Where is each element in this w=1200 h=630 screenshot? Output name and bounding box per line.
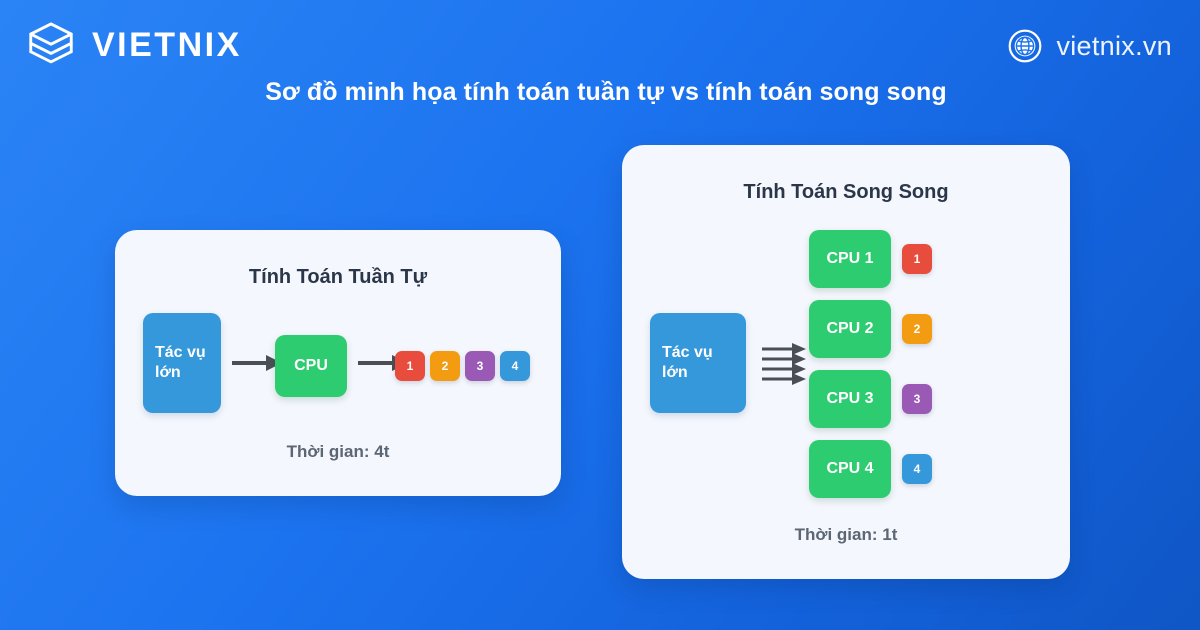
sequential-chip-row: 1 2 3 4 — [395, 351, 530, 381]
parallel-chip-2: 2 — [902, 314, 932, 344]
infographic-canvas: VIETNIX vietnix.vn Sơ đồ minh họa tính t… — [0, 0, 1200, 630]
sequential-chip-1: 1 — [395, 351, 425, 381]
stacked-layers-icon — [24, 18, 78, 72]
card-sequential-computing: Tính Toán Tuần Tự Tác vụ lớn CPU 1 2 3 4… — [115, 230, 561, 496]
sequential-chip-3: 3 — [465, 351, 495, 381]
globe-icon — [1007, 28, 1043, 64]
sequential-time-label: Thời gian: 4t — [115, 442, 561, 462]
brand-name: VIETNIX — [92, 26, 242, 65]
card-parallel-computing: Tính Toán Song Song Tác vụ lớn CPU 1 — [622, 145, 1070, 579]
brand-lockup: VIETNIX — [24, 18, 242, 72]
card-sequential-title: Tính Toán Tuần Tự — [115, 266, 561, 289]
page-title: Sơ đồ minh họa tính toán tuần tự vs tính… — [0, 78, 1200, 107]
parallel-time-label: Thời gian: 1t — [622, 525, 1070, 545]
parallel-cpu-box-1: CPU 1 — [809, 230, 891, 288]
site-label: vietnix.vn — [1056, 31, 1172, 62]
sequential-cpu-box: CPU — [275, 335, 347, 397]
site-lockup[interactable]: vietnix.vn — [1007, 28, 1172, 64]
parallel-cpu-box-2: CPU 2 — [809, 300, 891, 358]
parallel-cpu-box-3: CPU 3 — [809, 370, 891, 428]
sequential-task-box: Tác vụ lớn — [143, 313, 221, 413]
parallel-chip-4: 4 — [902, 454, 932, 484]
sequential-chip-2: 2 — [430, 351, 460, 381]
parallel-task-box: Tác vụ lớn — [650, 313, 746, 413]
card-parallel-title: Tính Toán Song Song — [622, 181, 1070, 204]
parallel-chip-3: 3 — [902, 384, 932, 414]
parallel-cpu-box-4: CPU 4 — [809, 440, 891, 498]
sequential-chip-4: 4 — [500, 351, 530, 381]
parallel-chip-1: 1 — [902, 244, 932, 274]
multi-arrow-right-icon — [762, 341, 808, 387]
